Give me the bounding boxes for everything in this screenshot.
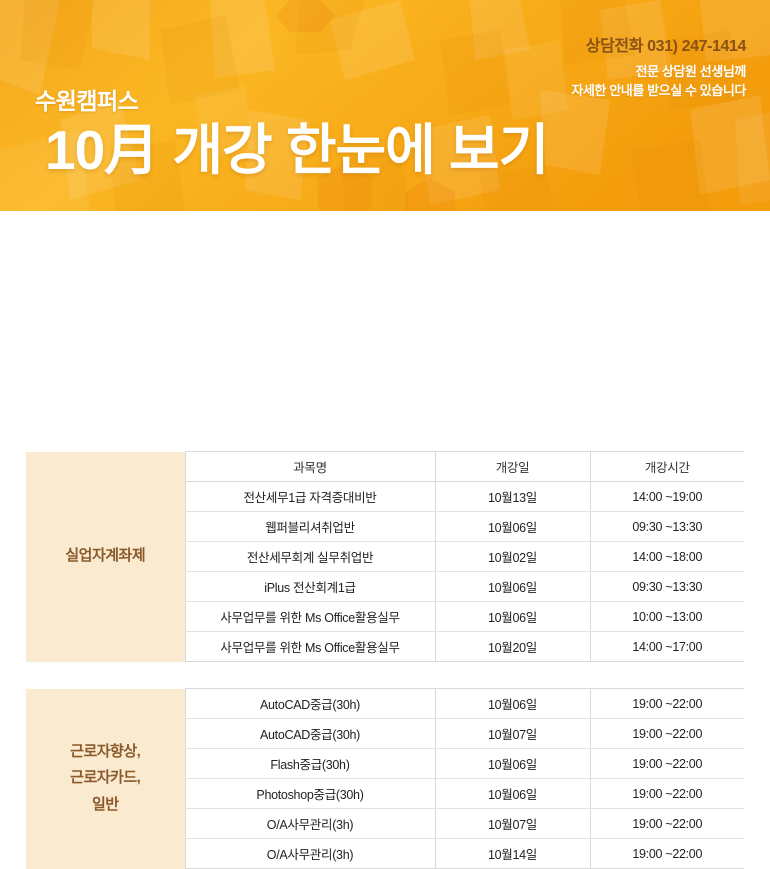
course-time: 19:00 ~22:00 [590,749,744,779]
course-name: 전산세무1급 자격증대비반 [185,482,435,512]
course-date: 10월06일 [435,689,590,719]
page-title: 10月 개강 한눈에 보기 [45,123,548,178]
course-name: 사무업무를 위한 Ms Office활용실무 [185,602,435,632]
course-time: 14:00 ~19:00 [590,482,744,512]
header-banner: 수원캠퍼스 10月 개강 한눈에 보기 상담전화 031) 247-1414 전… [0,0,770,211]
course-time: 19:00 ~22:00 [590,839,744,869]
course-time: 14:00 ~17:00 [590,632,744,662]
course-name: Flash중급(30h) [185,749,435,779]
schedule-table-worker-improvement: 근로자향상, 근로자카드, 일반 AutoCAD중급(30h) 10월06일 1… [26,688,744,869]
category-label-unemployed-account: 실업자계좌제 [26,452,185,662]
course-name: iPlus 전산회계1급 [185,572,435,602]
course-date: 10월06일 [435,779,590,809]
course-time: 09:30 ~13:30 [590,572,744,602]
course-time: 19:00 ~22:00 [590,779,744,809]
table-row: 근로자향상, 근로자카드, 일반 AutoCAD중급(30h) 10월06일 1… [26,689,744,719]
course-time: 19:00 ~22:00 [590,689,744,719]
course-name: O/A사무관리(3h) [185,839,435,869]
course-name: 웹퍼블리셔취업반 [185,512,435,542]
course-date: 10월06일 [435,512,590,542]
course-time: 19:00 ~22:00 [590,719,744,749]
course-name: 전산세무회계 실무취업반 [185,542,435,572]
course-date: 10월20일 [435,632,590,662]
table-header-row: 실업자계좌제 과목명 개강일 개강시간 [26,452,744,482]
course-time: 14:00 ~18:00 [590,542,744,572]
consult-subtext-line2: 자세한 안내를 받으실 수 있습니다 [571,80,746,99]
column-header-course-name: 과목명 [185,452,435,482]
table: 근로자향상, 근로자카드, 일반 AutoCAD중급(30h) 10월06일 1… [26,688,744,869]
course-name: O/A사무관리(3h) [185,809,435,839]
course-date: 10월06일 [435,602,590,632]
course-name: Photoshop중급(30h) [185,779,435,809]
course-date: 10월06일 [435,749,590,779]
category-label-worker-improvement: 근로자향상, 근로자카드, 일반 [26,689,185,869]
column-header-start-date: 개강일 [435,452,590,482]
course-time: 10:00 ~13:00 [590,602,744,632]
column-header-start-time: 개강시간 [590,452,744,482]
course-date: 10월07일 [435,719,590,749]
consult-subtext-line1: 전문 상담원 선생님께 [636,61,746,80]
schedule-table-unemployed-account: 실업자계좌제 과목명 개강일 개강시간 전산세무1급 자격증대비반 10월13일… [26,451,744,662]
course-date: 10월02일 [435,542,590,572]
course-name: 사무업무를 위한 Ms Office활용실무 [185,632,435,662]
category-label-line3: 일반 [26,792,185,818]
course-date: 10월14일 [435,839,590,869]
course-time: 19:00 ~22:00 [590,809,744,839]
category-label-line2: 근로자카드, [26,765,185,791]
course-date: 10월07일 [435,809,590,839]
table: 실업자계좌제 과목명 개강일 개강시간 전산세무1급 자격증대비반 10월13일… [26,451,744,662]
campus-name: 수원캠퍼스 [35,82,138,116]
course-date: 10월06일 [435,572,590,602]
category-label-line1: 근로자향상, [26,739,185,765]
course-name: AutoCAD중급(30h) [185,689,435,719]
course-name: AutoCAD중급(30h) [185,719,435,749]
consult-phone: 상담전화 031) 247-1414 [586,32,746,56]
course-date: 10월13일 [435,482,590,512]
course-time: 09:30 ~13:30 [590,512,744,542]
